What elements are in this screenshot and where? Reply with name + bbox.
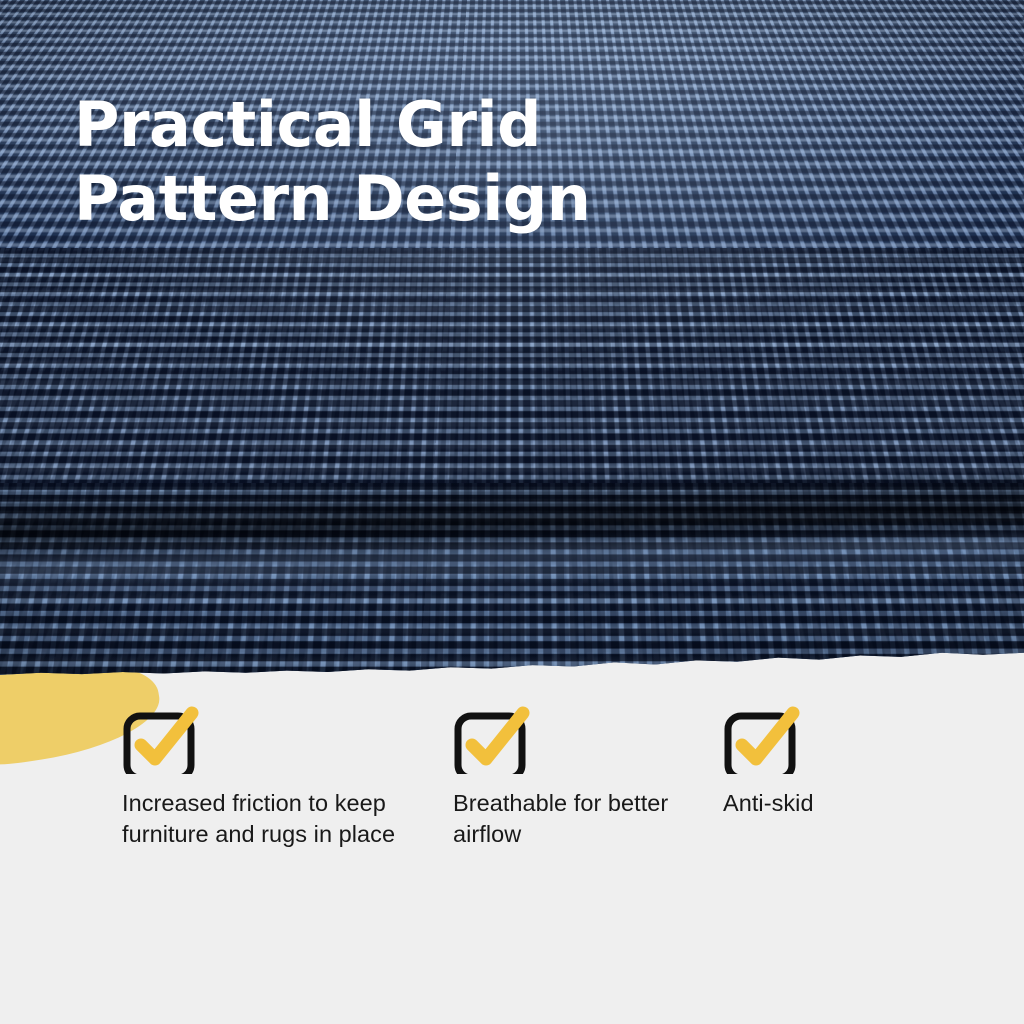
- headline-line-1: Practical Grid: [74, 88, 714, 162]
- headline-line-2: Pattern Design: [74, 162, 714, 236]
- feature-item-anti-skid: Anti-skid: [723, 700, 973, 819]
- checkbox-checked-icon: [723, 700, 801, 774]
- page-title: Practical Grid Pattern Design: [74, 88, 714, 236]
- feature-item-friction: Increased friction to keep furniture and…: [122, 700, 422, 850]
- feature-list: Increased friction to keep furniture and…: [0, 700, 1024, 930]
- feature-label: Anti-skid: [723, 788, 973, 819]
- feature-item-breathable: Breathable for better airflow: [453, 700, 703, 850]
- checkbox-checked-icon: [453, 700, 531, 774]
- feature-label: Increased friction to keep furniture and…: [122, 788, 422, 850]
- feature-label: Breathable for better airflow: [453, 788, 703, 850]
- checkbox-checked-icon: [122, 700, 200, 774]
- product-feature-banner: Practical Grid Pattern Design Increased …: [0, 0, 1024, 1024]
